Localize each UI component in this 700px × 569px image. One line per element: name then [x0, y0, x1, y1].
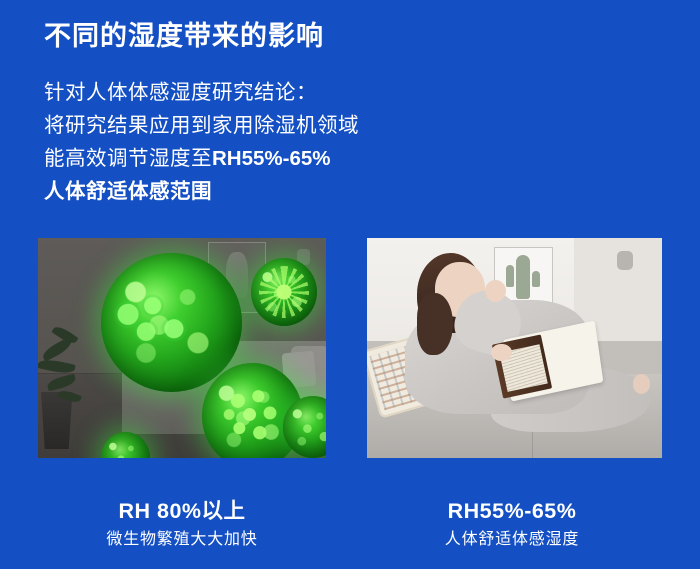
- panel-image-comfort-humidity: [367, 238, 662, 458]
- woman-hand-holding-book: [491, 344, 512, 362]
- woman-hair-strand: [417, 293, 452, 355]
- germ-cluster-small: [251, 258, 317, 326]
- intro-line-3-emphasis: RH55%-65%: [212, 147, 331, 170]
- bright-room-photo: [367, 238, 662, 458]
- intro-line-2: 将研究结果应用到家用除湿机领域: [44, 109, 564, 142]
- woman-hand-on-forehead: [485, 280, 506, 302]
- caption-title-high-humidity: RH 80%以上: [32, 498, 332, 525]
- dark-room-photo: [38, 238, 326, 458]
- caption-high-humidity: RH 80%以上 微生物繁殖大大加快: [32, 498, 332, 551]
- panel-image-high-humidity: [38, 238, 326, 458]
- wall-knob-icon: [617, 251, 633, 270]
- page-title: 不同的湿度带来的影响: [44, 20, 324, 52]
- caption-sub-comfort-humidity: 人体舒适体感湿度: [362, 530, 662, 551]
- intro-line-4: 人体舒适体感范围: [44, 175, 564, 208]
- intro-line-1: 针对人体体感湿度研究结论：: [44, 76, 564, 109]
- caption-sub-high-humidity: 微生物繁殖大大加快: [32, 530, 332, 551]
- intro-paragraph: 针对人体体感湿度研究结论： 将研究结果应用到家用除湿机领域 能高效调节湿度至RH…: [44, 76, 564, 208]
- intro-line-3-prefix: 能高效调节湿度至: [44, 147, 212, 170]
- cactus-icon: [516, 255, 530, 299]
- germ-cluster-large: [101, 253, 242, 392]
- intro-line-3: 能高效调节湿度至RH55%-65%: [44, 142, 564, 175]
- caption-comfort-humidity: RH55%-65% 人体舒适体感湿度: [362, 498, 662, 551]
- comparison-panels: [0, 238, 700, 458]
- caption-title-comfort-humidity: RH55%-65%: [362, 498, 662, 525]
